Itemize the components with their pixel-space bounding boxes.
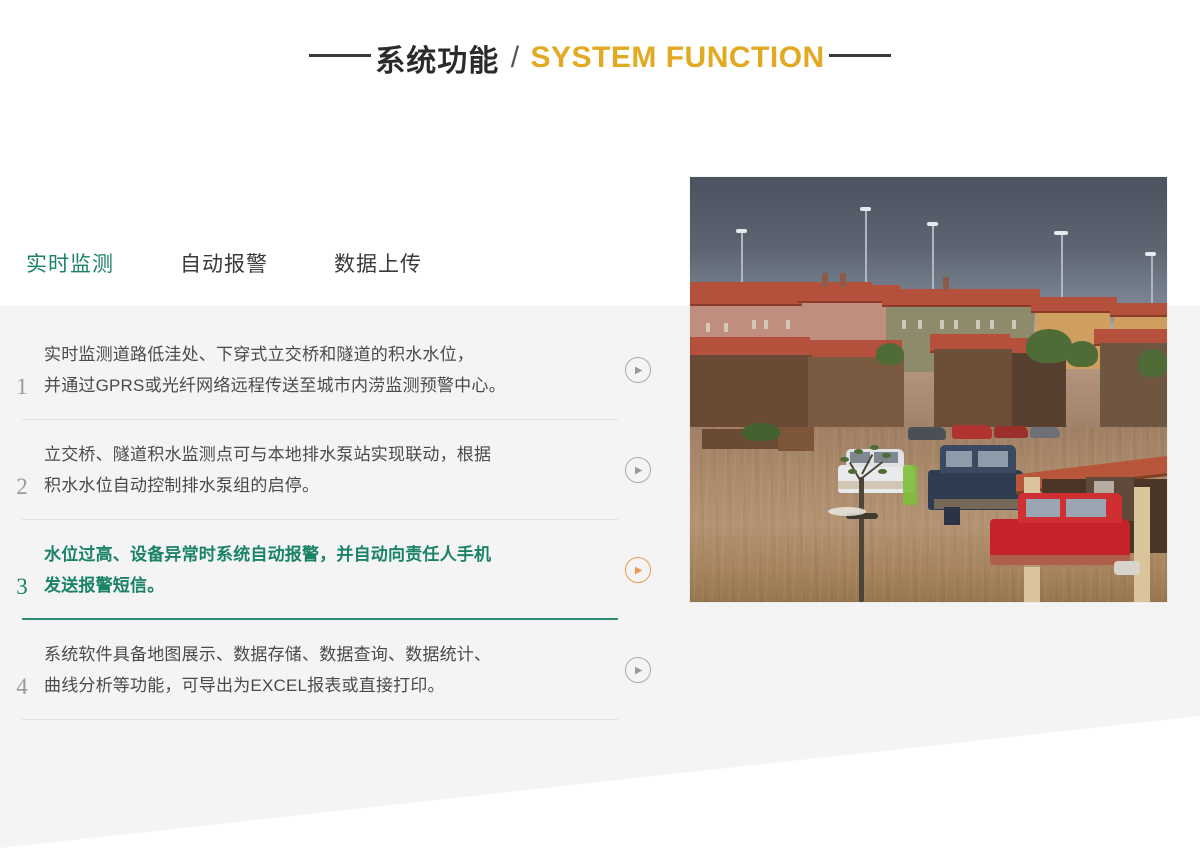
- hedge: [742, 423, 780, 441]
- feature-text-line1: 实时监测道路低洼处、下穿式立交桥和隧道的积水水位，: [44, 339, 602, 370]
- title-chinese: 系统功能: [375, 36, 499, 80]
- feature-arrow-button[interactable]: [616, 457, 660, 483]
- flooded-tree-trunk: [859, 477, 864, 602]
- lamp-head: [1054, 231, 1068, 235]
- submerged-car: [952, 425, 992, 439]
- feature-arrow-button[interactable]: [616, 557, 660, 583]
- list-item[interactable]: 3 水位过高、设备异常时系统自动报警，并自动向责任人手机 发送报警短信。: [0, 520, 660, 620]
- feature-text: 系统软件具备地图展示、数据存储、数据查询、数据统计、 曲线分析等功能，可导出为E…: [44, 639, 616, 701]
- tree-canopy: [1138, 349, 1167, 377]
- title-rule-left: [309, 54, 371, 57]
- feature-number: 2: [0, 474, 44, 514]
- tab-data-upload[interactable]: 数据上传: [334, 248, 422, 278]
- flood-photo: [690, 177, 1167, 602]
- tab-realtime-monitoring[interactable]: 实时监测: [26, 248, 114, 278]
- feature-number: 3: [0, 574, 44, 614]
- tree-canopy: [876, 343, 904, 365]
- feature-text-line2: 发送报警短信。: [44, 570, 602, 601]
- lamp-head: [927, 222, 938, 226]
- lamp-head: [1145, 252, 1156, 256]
- lamp-head: [860, 207, 871, 211]
- play-arrow-icon: [625, 657, 651, 683]
- list-item[interactable]: 2 立交桥、隧道积水监测点可与本地排水泵站实现联动，根据 积水水位自动控制排水泵…: [0, 420, 660, 520]
- feature-text-line2: 积水水位自动控制排水泵组的启停。: [44, 470, 602, 501]
- submerged-car: [908, 427, 946, 440]
- feature-arrow-button[interactable]: [616, 657, 660, 683]
- page-root: 系统功能 / SYSTEM FUNCTION 实时监测 自动报警 数据上传 1 …: [0, 0, 1200, 848]
- house-roof: [1031, 297, 1117, 313]
- feature-text-line1: 水位过高、设备异常时系统自动报警，并自动向责任人手机: [44, 539, 602, 570]
- feature-number: 4: [0, 674, 44, 714]
- title-rule-right: [829, 54, 891, 57]
- submerged-car: [1030, 427, 1060, 438]
- feature-text-line1: 立交桥、隧道积水监测点可与本地排水泵站实现联动，根据: [44, 439, 602, 470]
- lamp-head: [736, 229, 747, 233]
- floating-debris: [1114, 561, 1140, 575]
- feature-text-line1: 系统软件具备地图展示、数据存储、数据查询、数据统计、: [44, 639, 602, 670]
- feature-arrow-button[interactable]: [616, 357, 660, 383]
- play-arrow-icon: [625, 357, 651, 383]
- list-item[interactable]: 1 实时监测道路低洼处、下穿式立交桥和隧道的积水水位， 并通过GPRS或光纤网络…: [0, 320, 660, 420]
- page-title: 系统功能 / SYSTEM FUNCTION: [0, 36, 1200, 80]
- title-english: SYSTEM FUNCTION: [531, 41, 825, 75]
- feature-text-line2: 并通过GPRS或光纤网络远程传送至城市内涝监测预警中心。: [44, 370, 602, 401]
- feature-text-line2: 曲线分析等功能，可导出为EXCEL报表或直接打印。: [44, 670, 602, 701]
- carport-post: [1134, 487, 1150, 602]
- list-item[interactable]: 4 系统软件具备地图展示、数据存储、数据查询、数据统计、 曲线分析等功能，可导出…: [0, 620, 660, 720]
- house-roof: [1110, 303, 1167, 317]
- house-roof: [882, 289, 1040, 307]
- tree-canopy: [1026, 329, 1072, 363]
- submerged-car: [994, 426, 1028, 438]
- play-arrow-icon: [625, 457, 651, 483]
- feature-text: 立交桥、隧道积水监测点可与本地排水泵站实现联动，根据 积水水位自动控制排水泵组的…: [44, 439, 616, 501]
- feature-number: 1: [0, 374, 44, 414]
- tab-auto-alarm[interactable]: 自动报警: [180, 248, 268, 278]
- feature-list: 1 实时监测道路低洼处、下穿式立交桥和隧道的积水水位， 并通过GPRS或光纤网络…: [0, 320, 660, 720]
- tree-canopy: [1066, 341, 1098, 367]
- play-arrow-icon: [625, 557, 651, 583]
- feature-text: 水位过高、设备异常时系统自动报警，并自动向责任人手机 发送报警短信。: [44, 539, 616, 601]
- feature-separator: [22, 719, 618, 720]
- fence: [778, 427, 814, 451]
- floating-debris: [828, 507, 866, 516]
- feature-tabs: 实时监测 自动报警 数据上传: [26, 248, 488, 278]
- title-separator: /: [504, 41, 526, 75]
- green-marker: [903, 465, 917, 505]
- feature-text: 实时监测道路低洼处、下穿式立交桥和隧道的积水水位， 并通过GPRS或光纤网络远程…: [44, 339, 616, 401]
